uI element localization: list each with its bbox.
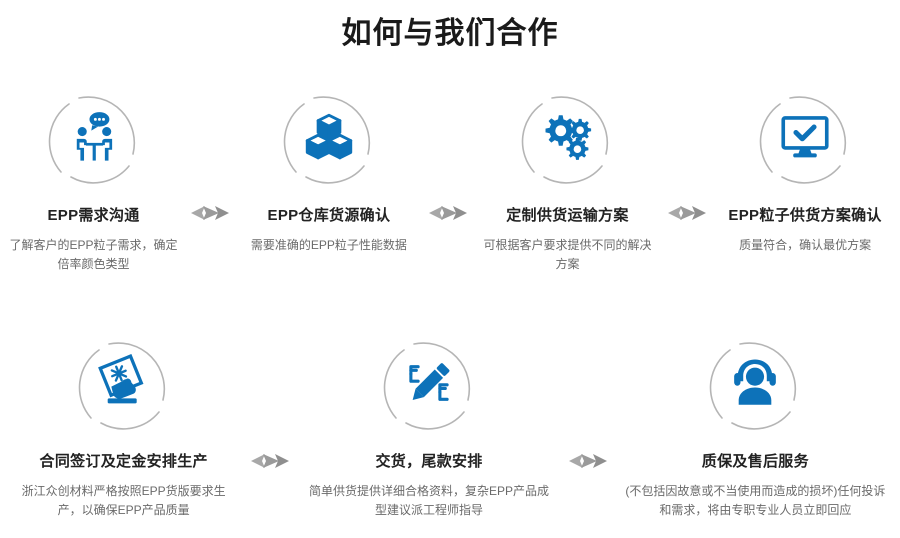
- meeting-discussion-icon: [65, 108, 123, 166]
- pencil-edit-icon: [400, 354, 458, 412]
- step-5-description: 浙江众创材料严格按照EPP货版要求生产，以确保EPP产品质量: [5, 482, 243, 520]
- stacked-boxes-icon: [300, 108, 358, 166]
- step-card-4[interactable]: EPP粒子供货方案确认 质量符合，确认最优方案: [710, 82, 900, 255]
- arrow-separator-2: [425, 200, 471, 226]
- arrow-separator-1: [187, 200, 233, 226]
- step-5-title: 合同签订及定金安排生产: [40, 452, 208, 472]
- step-5-badge: [69, 328, 179, 438]
- step-card-3[interactable]: 定制供货运输方案 可根据客户要求提供不同的解决方案: [471, 82, 664, 274]
- step-card-7[interactable]: 质保及售后服务 (不包括因故意或不当使用而造成的损坏)任何投诉和需求，将由专职专…: [611, 328, 900, 520]
- step-4-description: 质量符合，确认最优方案: [731, 236, 879, 255]
- step-2-badge: [274, 82, 384, 192]
- arrow-separator-4: [247, 448, 293, 474]
- step-2-description: 需要准确的EPP粒子性能数据: [243, 236, 415, 255]
- step-card-5[interactable]: 合同签订及定金安排生产 浙江众创材料严格按照EPP货版要求生产，以确保EPP产品…: [0, 328, 247, 520]
- page-title: 如何与我们合作: [0, 14, 900, 54]
- gears-icon: [538, 108, 596, 166]
- step-3-badge: [512, 82, 622, 192]
- arrow-separator-3: [664, 200, 710, 226]
- arrow-separator-5: [565, 448, 611, 474]
- step-7-badge: [700, 328, 810, 438]
- step-card-2[interactable]: EPP仓库货源确认 需要准确的EPP粒子性能数据: [233, 82, 425, 255]
- step-6-badge: [374, 328, 484, 438]
- step-6-title: 交货，尾款安排: [376, 452, 483, 472]
- step-1-description: 了解客户的EPP粒子需求，确定倍率颜色类型: [0, 236, 187, 274]
- step-6-description: 简单供货提供详细合格资料，复杂EPP产品成型建议派工程师指导: [298, 482, 560, 520]
- step-card-6[interactable]: 交货，尾款安排 简单供货提供详细合格资料，复杂EPP产品成型建议派工程师指导: [293, 328, 564, 520]
- step-4-title: EPP粒子供货方案确认: [728, 206, 881, 226]
- how-to-cooperate-infographic: 如何与我们合作: [0, 0, 900, 538]
- step-7-title: 质保及售后服务: [702, 452, 809, 472]
- step-2-title: EPP仓库货源确认: [268, 206, 391, 226]
- step-3-description: 可根据客户要求提供不同的解决方案: [471, 236, 664, 274]
- monitor-check-icon: [776, 108, 834, 166]
- steps-row-bottom: 合同签订及定金安排生产 浙江众创材料严格按照EPP货版要求生产，以确保EPP产品…: [0, 328, 900, 520]
- step-3-title: 定制供货运输方案: [506, 206, 628, 226]
- step-1-title: EPP需求沟通: [47, 206, 139, 226]
- step-card-1[interactable]: EPP需求沟通 了解客户的EPP粒子需求，确定倍率颜色类型: [0, 82, 187, 274]
- step-1-badge: [39, 82, 149, 192]
- steps-row-top: EPP需求沟通 了解客户的EPP粒子需求，确定倍率颜色类型: [0, 82, 900, 274]
- headset-support-icon: [726, 354, 784, 412]
- contract-signing-icon: [95, 354, 153, 412]
- step-7-description: (不包括因故意或不当使用而造成的损坏)任何投诉和需求，将由专职专业人员立即回应: [612, 482, 898, 520]
- step-4-badge: [750, 82, 860, 192]
